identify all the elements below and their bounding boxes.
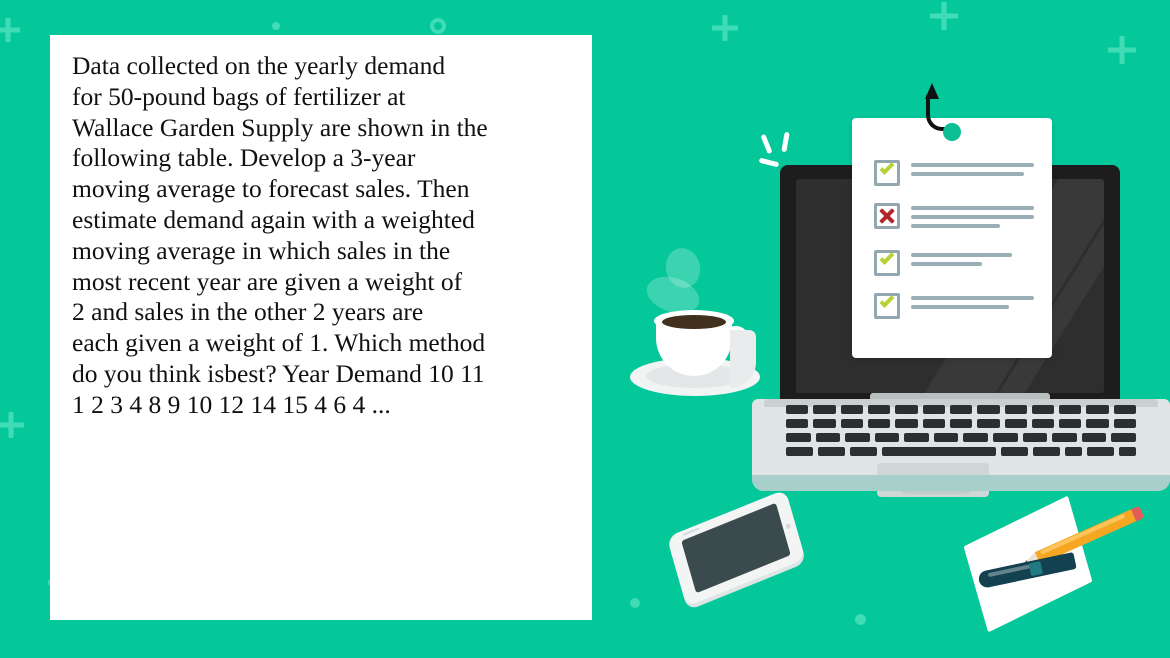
- phone-home-button: [785, 523, 791, 530]
- checkbox-checked[interactable]: [874, 250, 900, 276]
- checklist-row-lines: [911, 293, 1034, 314]
- sparkle-icon: [752, 132, 802, 182]
- pin-cursor-icon: [916, 85, 960, 145]
- check-icon: [880, 250, 895, 265]
- phone-screen: [681, 503, 791, 593]
- checklist-row-lines: [911, 250, 1034, 271]
- ring-dot-icon: [430, 18, 446, 34]
- question-text-card: Data collected on the yearly demand for …: [50, 35, 592, 620]
- spacebar-key[interactable]: [882, 447, 996, 456]
- check-icon: [880, 293, 895, 308]
- keyboard-row: [786, 433, 1136, 442]
- checklist-row[interactable]: [874, 250, 1034, 276]
- laptop-base-shadow: [752, 475, 1170, 491]
- plus-icon: [712, 15, 738, 41]
- pin-head-icon: [943, 123, 961, 141]
- check-icon: [880, 160, 895, 175]
- checklist-row[interactable]: [874, 293, 1034, 319]
- dot-icon: [272, 22, 280, 30]
- checklist-paper: [852, 118, 1052, 358]
- checklist: [874, 160, 1034, 336]
- plus-icon: [0, 18, 20, 42]
- close-icon: [877, 206, 897, 226]
- keyboard[interactable]: [786, 405, 1136, 455]
- checklist-row-lines: [911, 160, 1034, 181]
- coffee-cup-illustration: [630, 300, 760, 400]
- dot-icon: [630, 598, 640, 608]
- illustration-canvas: Data collected on the yearly demand for …: [0, 0, 1170, 658]
- checklist-row[interactable]: [874, 203, 1034, 233]
- keyboard-row: [786, 447, 1136, 456]
- laptop-base: [752, 399, 1170, 491]
- plus-icon: [0, 412, 24, 438]
- dot-icon: [855, 614, 866, 625]
- keyboard-row: [786, 405, 1136, 414]
- pen-grip: [1029, 561, 1043, 576]
- keyboard-row: [786, 419, 1136, 428]
- checklist-row[interactable]: [874, 160, 1034, 186]
- plus-icon: [930, 2, 958, 30]
- plus-icon: [1108, 36, 1136, 64]
- checkbox-checked[interactable]: [874, 160, 900, 186]
- question-text: Data collected on the yearly demand for …: [50, 35, 592, 421]
- coffee-liquid: [662, 315, 726, 329]
- desk-paper-illustration: [960, 512, 1130, 622]
- checkbox-rejected[interactable]: [874, 203, 900, 229]
- checkbox-checked[interactable]: [874, 293, 900, 319]
- checklist-row-lines: [911, 203, 1034, 233]
